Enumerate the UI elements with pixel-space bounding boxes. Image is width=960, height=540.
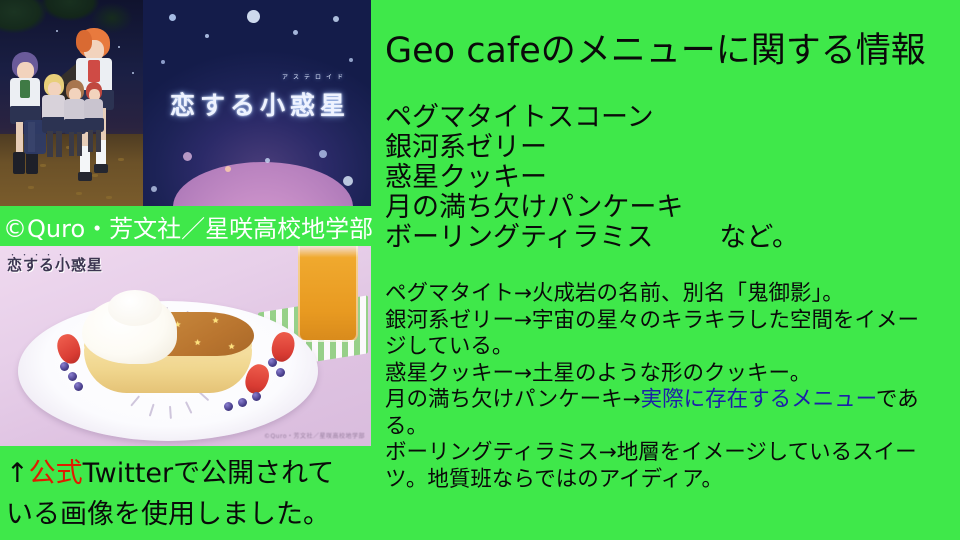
menu-item: 月の満ち欠けパンケーキ — [385, 193, 960, 223]
explanation-line: る。 — [385, 414, 960, 441]
menu-list: ペグマタイトスコーン 銀河系ゼリー 惑星クッキー 月の満ち欠けパンケーキ ボーリ… — [385, 103, 960, 253]
caption-rest: Twitterで公開されて — [83, 458, 335, 489]
title-logo-text: 恋する小惑星 — [153, 86, 367, 122]
explanation-line: ジしている。 — [385, 334, 960, 361]
blueberry — [268, 358, 277, 367]
menu-item: 銀河系ゼリー — [385, 133, 960, 163]
menu-item-last: ボーリングティラミスなど。 — [385, 223, 960, 253]
key-visual-photo-half — [0, 0, 143, 206]
title-ruby-text: アステロイド — [263, 72, 367, 81]
blueberry — [68, 372, 77, 381]
whipped-cream-peak — [108, 290, 162, 326]
explanation-line: ボーリングティラミス→地層をイメージしているスイー — [385, 440, 960, 467]
blueberry — [252, 392, 261, 401]
photo-watermark: ©Quro・芳文社／星咲高校地学部 — [264, 431, 365, 440]
copyright-band: ©Quro・芳文社／星咲高校地学部 — [0, 206, 371, 246]
explanation-pre: 月の満ち欠けパンケーキ→ — [385, 387, 641, 412]
blueberry — [276, 368, 285, 377]
menu-item: 惑星クッキー — [385, 163, 960, 193]
blueberry — [60, 362, 69, 371]
source-caption: ↑公式Twitterで公開されて いる画像を使用しました。 — [0, 449, 371, 540]
menu-etc-label: など。 — [719, 222, 799, 253]
caption-line-1: ↑公式Twitterで公開されて — [6, 453, 367, 494]
up-arrow-icon: ↑ — [6, 458, 29, 489]
blueberry — [238, 398, 247, 407]
caption-red-word: 公式 — [29, 458, 83, 489]
explanation-line: 銀河系ゼリー→宇宙の星々のキラキラした空間をイメー — [385, 308, 960, 335]
explanation-highlight: 実際に存在するメニュー — [641, 387, 876, 412]
left-media-column: アステロイド 恋する小惑星 ©Quro・芳文社／星咲高校地学部 ・・・・・ 恋す… — [0, 0, 371, 540]
pancake-logo-text: 恋する小惑星 — [7, 254, 103, 275]
blueberry — [74, 382, 83, 391]
slide-root: アステロイド 恋する小惑星 ©Quro・芳文社／星咲高校地学部 ・・・・・ 恋す… — [0, 0, 960, 540]
explanation-line: ペグマタイト→火成岩の名前、別名「鬼御影」。 — [385, 281, 960, 308]
planet-horizon — [173, 162, 353, 206]
explanation-post: であ — [876, 387, 919, 412]
explanation-block: ペグマタイト→火成岩の名前、別名「鬼御影」。 銀河系ゼリー→宇宙の星々のキラキラ… — [385, 281, 960, 493]
caption-line-2: いる画像を使用しました。 — [6, 494, 367, 535]
explanation-line-highlighted: 月の満ち欠けパンケーキ→実際に存在するメニューであ — [385, 387, 960, 414]
orange-juice-glass — [298, 246, 358, 342]
page-title: Geo cafeのメニューに関する情報 — [385, 22, 926, 73]
key-visual-title-card: アステロイド 恋する小惑星 — [143, 0, 371, 206]
copyright-text: ©Quro・芳文社／星咲高校地学部 — [0, 209, 373, 244]
anime-key-visual: アステロイド 恋する小惑星 — [0, 0, 371, 206]
menu-item-label: ボーリングティラミス — [385, 222, 653, 253]
blueberry — [224, 402, 233, 411]
moon-phase-pancake-photo: ・・・・・ 恋する小惑星 — [0, 246, 371, 446]
right-text-panel: Geo cafeのメニューに関する情報 ペグマタイトスコーン 銀河系ゼリー 惑星… — [371, 0, 960, 540]
explanation-line: 惑星クッキー→土星のような形のクッキー。 — [385, 361, 960, 388]
explanation-line: ツ。地質班ならではのアイディア。 — [385, 467, 960, 494]
menu-item: ペグマタイトスコーン — [385, 103, 960, 133]
